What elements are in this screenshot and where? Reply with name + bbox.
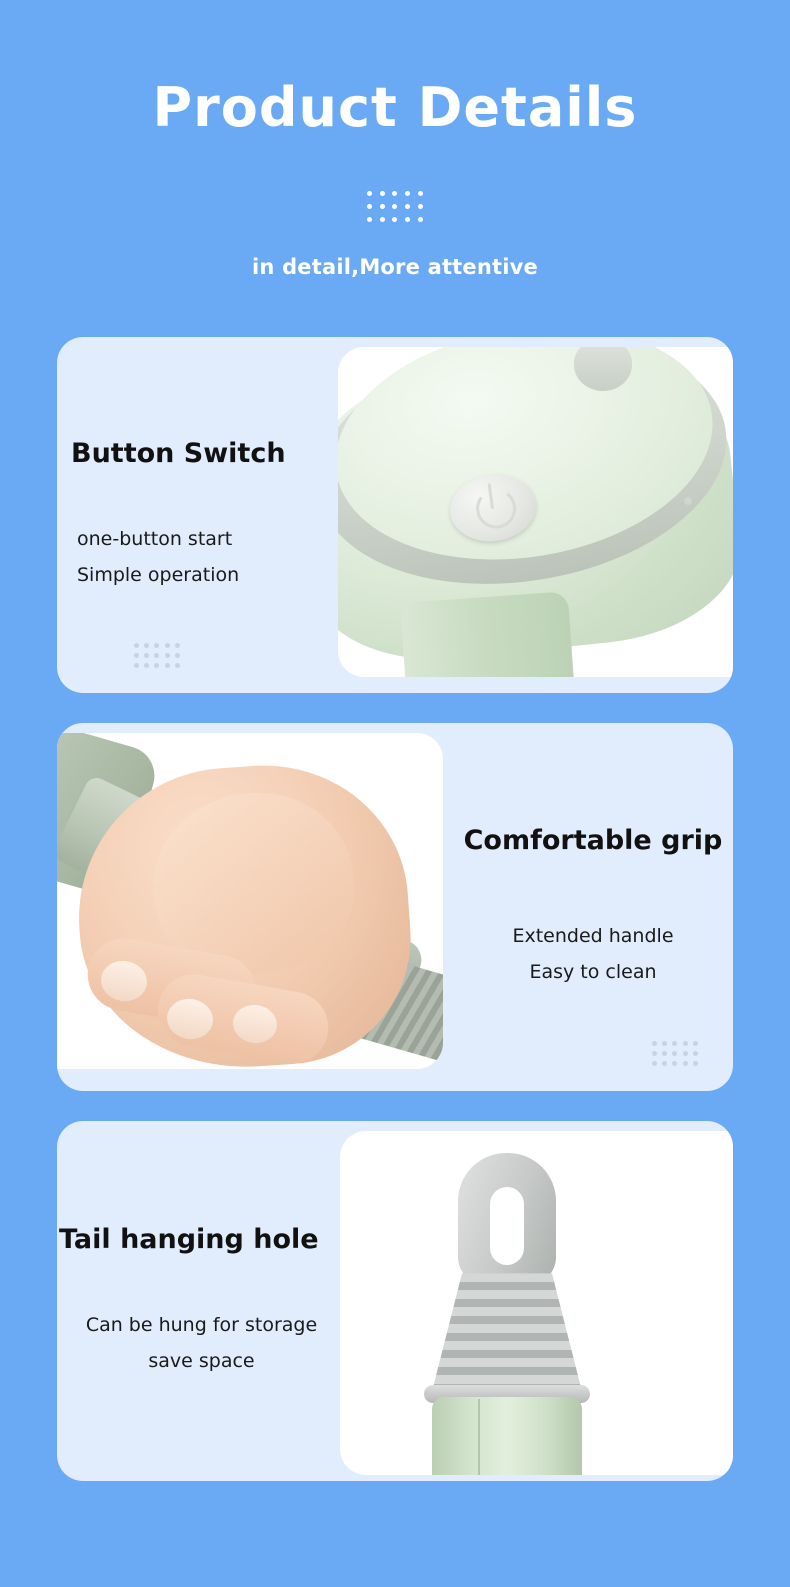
- card-description-line: Extended handle: [512, 919, 673, 954]
- page-title: Product Details: [0, 78, 790, 137]
- card-dot-grid-icon: [651, 1039, 699, 1067]
- card-heading: Tail hanging hole: [59, 1224, 340, 1256]
- device-barrel-shape: [432, 1397, 582, 1475]
- feature-card-list: Button Switch one-button start Simple op…: [0, 337, 790, 1481]
- header-dot-grid-icon: [365, 189, 425, 223]
- card-text-block: Tail hanging hole Can be hung for storag…: [57, 1121, 340, 1481]
- feature-card-comfortable-grip[interactable]: Comfortable grip Extended handle Easy to…: [57, 723, 733, 1091]
- card-dot-grid-icon: [133, 641, 181, 669]
- product-photo-tail-hanging-hole: [340, 1131, 733, 1475]
- card-heading: Button Switch: [71, 438, 338, 470]
- card-description: Extended handle Easy to clean: [512, 919, 673, 989]
- page-subtitle: in detail,More attentive: [0, 255, 790, 279]
- card-description-line: Can be hung for storage: [63, 1308, 340, 1343]
- card-description-line: Easy to clean: [512, 955, 673, 990]
- card-description: one-button start Simple operation: [71, 522, 338, 592]
- feature-card-button-switch[interactable]: Button Switch one-button start Simple op…: [57, 337, 733, 693]
- product-photo-button-switch: [338, 347, 733, 677]
- card-description-line: one-button start: [77, 522, 338, 557]
- feature-card-tail-hanging-hole[interactable]: Tail hanging hole Can be hung for storag…: [57, 1121, 733, 1481]
- card-text-block: Button Switch one-button start Simple op…: [57, 337, 338, 693]
- page-header: Product Details in detail,More attentive: [0, 0, 790, 279]
- card-description: Can be hung for storage save space: [59, 1308, 340, 1378]
- card-text-block: Comfortable grip Extended handle Easy to…: [443, 723, 733, 1091]
- card-description-line: save space: [63, 1344, 340, 1379]
- device-neck-shape: [400, 592, 576, 678]
- hanging-loop-shape: [458, 1153, 556, 1285]
- product-photo-hand-grip: [57, 733, 443, 1069]
- card-description-line: Simple operation: [77, 558, 338, 593]
- card-heading: Comfortable grip: [464, 825, 723, 857]
- ribbed-tail-shape: [432, 1273, 582, 1391]
- barrel-seam-line: [478, 1399, 480, 1475]
